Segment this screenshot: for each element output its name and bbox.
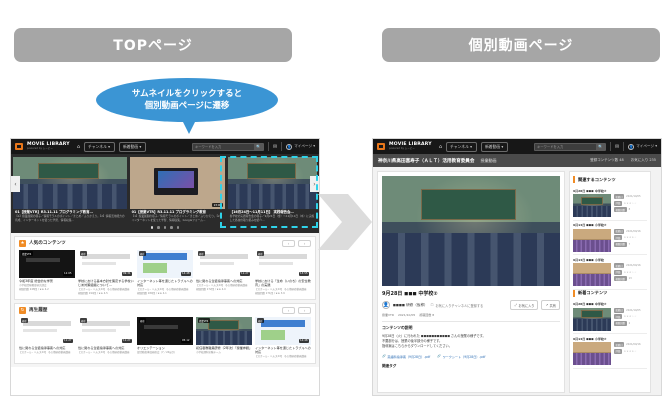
user-menu[interactable]: 👤 マイページ ▾ [628,144,657,150]
favorite-label: お気に入り [519,303,535,308]
logo-sub: powered by ムービー [27,148,70,150]
share-label: 共有 [550,303,556,308]
nav-channel-dropdown[interactable]: チャンネル ▾ [446,142,477,152]
sidebar-list-item[interactable]: 9月14日 ◼◼◼ 小学校②22:05:00投稿日2021/09/16評価★★★… [573,334,647,369]
channel-subtitle: 授業動画 [480,158,496,164]
chip-key: 投稿日 [614,263,624,268]
home-icon[interactable]: ⌂ [439,144,442,150]
tag-section-heading: 関連タグ [382,364,560,369]
nav-divider-2 [281,142,282,151]
card-row: 授業VTR12:05令和3年度 総合的な学習小学校情報教育研究部会視聴回数 24… [19,250,311,295]
duration-badge: 22:05:00 [594,359,609,363]
section-accent-bar [573,176,575,183]
carousel-dots[interactable] [11,222,319,233]
section-history: ↻ 再生履歴 ‹ › 研修11:27性に関わる生徒指導事案への対応【スクール・ヘ… [14,303,316,364]
mail-icon[interactable]: ✉ [273,144,277,150]
sidebar-item-meta: 投稿日2021/09/16評価★★★★☆ [614,342,647,365]
attachment-links: 🔗英語科指導案（9月28日）.pdf🔗ワークシート（9月28日）.pdf [382,354,560,359]
mail-icon[interactable]: ✉ [615,144,619,150]
chip-key: 視聴回数 [614,242,627,247]
section-prev-button[interactable]: ‹ [282,307,295,314]
screenshot-detail-page: MOVIE LIBRARY powered by ムービー ⌂ チャンネル ▾ … [372,138,662,396]
logo-sub: powered by ムービー [389,148,432,150]
logo-icon [377,143,385,150]
video-player[interactable] [382,176,560,286]
duration-badge: 14:48 [181,272,191,276]
card-subtitle: 部活動指導員研修会（7／24ほか） [137,351,193,354]
callout-line-1: サムネイルをクリックすると [132,88,242,100]
detail-body: 9月28日 ◼◼◼ 中学校② 👤 ◼◼◼◼ 研修（仮称） ☐ お気に入りチャンネ… [373,167,661,396]
card-thumbnail[interactable]: 研修11:27 [78,317,134,345]
sidebar-meta-chip: 評価★★★★☆ [614,349,647,354]
screenshot-top-page: MOVIE LIBRARY powered by ムービー ⌂ チャンネル ▾ … [10,138,320,396]
chip-value: 2021/10/05 [626,309,640,312]
sidebar-item-meta: 投稿日2021/09/16評価★★★★☆視聴回数7 [614,229,647,252]
hero-caption: 01【授業VTR】R3.11.11 プログラミング教育 【1】授業展開の様子／情… [130,209,225,222]
card-meta: 視聴回数 171回 / ★★ 3.9 [255,292,311,295]
video-tag: 2021/10/05 [398,313,415,317]
channel-bar: 神奈川県高田喜寿子（ＡＬＴ）活用教育委員会 授業動画 登録コンテンツ数 48 お… [373,154,661,167]
chip-key: 評価 [614,270,622,275]
section-prev-button[interactable]: ‹ [282,240,295,247]
sidebar-thumbnail[interactable]: 18:21:00 [573,263,611,286]
content-card[interactable]: 研修14:48インターネット等を通じたトラブルへの対応【スクール・ヘルス24】 … [137,250,193,295]
chip-key: 投稿日 [614,342,624,347]
hero-slide-row: 15:42 01【授業VTR】R3.11.11 プログラミング教育… 【1】授業… [11,157,319,222]
video-tag: 授業VTR [382,313,394,317]
carousel-dot[interactable] [177,226,180,229]
search-input[interactable]: キーワードを入力 🔍 [192,143,264,151]
search-placeholder: キーワードを入力 [195,144,221,149]
duration-badge: 23:08 [212,203,222,207]
hero-carousel: ‹ › 15:42 01【授業VTR】R3.11.11 プログラミング教育… 【… [11,154,319,233]
description-body: 9月28日（火）に行われた ◼◼◼◼◼◼◼◼◼◼◼ さんの授業の様子です。不要部… [382,334,560,350]
nav-divider [610,142,611,151]
description-line: 指導案はこちらからダウンロードしてください。 [382,344,560,349]
channel-content-count: 登録コンテンツ数 48 [590,158,624,163]
card-title: 初任者教職員研修（2年次）「授業参観」 [196,346,252,350]
callout-line-2: 個別動画ページに遷移 [145,100,230,112]
chip-key: 投稿日 [614,194,624,199]
duration-badge: 18:21:00 [594,280,609,284]
card-thumbnail[interactable]: 授業VTR21:40 [196,317,252,345]
chip-value: 7 [629,243,631,246]
duration-badge: 08:15 [305,203,315,207]
sidebar-section-header: 関連するコンテンツ [573,176,647,183]
category-badge: 研修 [80,251,88,256]
duration-badge: 12:34:00 [594,211,609,215]
card-thumbnail[interactable]: 研修14:48 [255,317,311,345]
content-card[interactable]: 研修11:27性に関わる生徒指導事案への対応【スクール・ヘルス24】 その他研修… [19,317,75,359]
author-avatar-icon: 👤 [382,301,390,309]
chip-key: 評価 [614,201,622,206]
card-subtitle: 【スクール・ヘルス24】 その他研修動画講座 [78,351,134,354]
chip-key: 投稿日 [614,229,624,234]
content-card[interactable]: 研修11:27性に関わる生徒指導事案への対応【スクール・ヘルス24】 その他研修… [78,317,134,359]
chip-key: 視聴回数 [614,276,627,281]
hero-caption: 【16月24日〜11月11日】 実践報告会… 各学校の実践報告会の様子／9月24… [228,209,317,222]
description-heading: コンテンツの説明 [382,325,560,331]
checkbox-icon: ☐ [431,303,434,307]
star-icon: ★ [19,240,26,247]
sidebar-thumbnail[interactable]: 22:05:00 [573,342,611,365]
duration-badge: 09:31 [122,272,132,276]
sidebar-item-title: 9月28日 ◼◼◼ 中学校② [573,302,647,306]
sidebar-meta-chip: 評価★★★★☆ [614,235,647,240]
chip-value: ★★★☆☆ [624,271,637,274]
history-icon: ↻ [19,307,26,314]
category-badge: 授業VTR [21,251,33,256]
card-meta: 視聴回数 194回 / ★★ 4.5 [78,292,134,295]
callout-bubble: サムネイルをクリックすると 個別動画ページに遷移 [96,78,278,122]
home-icon[interactable]: ⌂ [77,144,80,150]
channel-title: 神奈川県高田喜寿子（ＡＬＴ）活用教育委員会 [378,158,474,164]
search-icon[interactable]: 🔍 [596,144,605,150]
nav-new-videos-dropdown[interactable]: 新着動画 ▾ [119,142,146,152]
video-tag: 視聴回数 8 [419,313,434,317]
card-title: 令和3年度 総合的な学習 [19,279,75,283]
carousel-dot[interactable] [157,226,160,229]
avatar: 👤 [286,144,292,150]
duration-badge: 11:27 [122,339,132,343]
category-badge: 研修 [257,251,265,256]
section-title: 人気のコンテンツ [29,240,66,246]
card-thumbnail[interactable]: 研修14:48 [137,250,193,278]
sidebar-meta-chip: 視聴回数7 [614,242,647,247]
chip-key: 視聴回数 [614,207,627,212]
link-icon: 🔗 [382,354,386,358]
search-icon[interactable]: 🔍 [254,144,263,150]
search-placeholder: キーワードを入力 [537,144,563,149]
card-title: インターネット等を通じたトラブルへの対応 [137,279,193,287]
card-title: 性に関わる生徒指導事案への対応 [19,346,75,350]
section-header: ★ 人気のコンテンツ ‹ › [19,240,311,247]
card-title: インターネット等を通じたトラブルへの対応 [255,346,311,354]
section-nav: ‹ › [282,307,311,314]
hero-thumbnail[interactable]: 23:08 [130,157,225,209]
avatar: 👤 [628,144,634,150]
sidebar-item-body: 12:34:00投稿日2021/10/05評価★★★☆☆視聴回数2 [573,308,647,331]
user-menu-label: マイページ ▾ [294,144,315,149]
nav-divider-2 [623,142,624,151]
attachment-link[interactable]: 🔗ワークシート（9月28日）.pdf [437,354,485,359]
nav-divider [268,142,269,151]
card-meta: 視聴回数 248回 / ★★ 4.2 [19,288,75,291]
search-input[interactable]: キーワードを入力 🔍 [534,143,606,151]
sidebar-item-body: 22:05:00投稿日2021/09/16評価★★★★☆ [573,342,647,365]
sidebar-section-title: 新着コンテンツ [578,290,607,296]
sidebar-list-item[interactable]: 9月28日 ◼◼◼ 中学校②12:34:00投稿日2021/10/05評価★★★… [573,300,647,335]
hero-caption: 01【授業VTR】R3.11.11 プログラミング教育… 【1】授業展開の様子／… [13,209,127,222]
duration-badge: 05:12 [181,339,191,343]
card-meta: 視聴回数 180回 / ★★ 4.1 [137,292,193,295]
card-thumbnail[interactable]: 研修05:12 [137,317,193,345]
sidebar-section-title: 関連するコンテンツ [578,177,616,183]
carousel-dot[interactable] [170,226,173,229]
hero-slide[interactable]: 15:42 01【授業VTR】R3.11.11 プログラミング教育… 【1】授業… [13,157,127,222]
content-card[interactable]: 研修09:31学校における基本方針を策定する学校いじめ対策組織について…【スクー… [78,250,134,295]
chip-value: ★★★★☆ [624,350,637,353]
content-card[interactable]: 研修13:55学校における「生命（いのち）の安全教育」の実践【スクール・ヘルス2… [255,250,311,295]
sidebar-item-meta: 投稿日2021/09/16評価★★★☆☆視聴回数13 [614,263,647,286]
attachment-label: 英語科指導案（9月28日）.pdf [387,354,430,359]
hero-slide-selected[interactable]: 08:15 【16月24日〜11月11日】 実践報告会… 各学校の実践報告会の様… [228,157,317,222]
hero-desc: 【1】授業展開の様子／情報モラルのポイント／まとめ／ふりかえり。【2】インターネ… [132,215,223,222]
chip-value: ★★★☆☆ [624,315,637,318]
page-root: TOPページ 個別動画ページ サムネイルをクリックすると 個別動画ページに遷移 … [0,0,672,404]
section-next-button[interactable]: › [298,240,311,247]
duration-badge: 12:05 [63,272,73,276]
chip-value: ★★★☆☆ [624,202,637,205]
favorite-icon: ⤢ [514,303,517,307]
sidebar-meta-chip: 投稿日2021/10/05 [614,194,647,199]
related-sidebar: 関連するコンテンツ9月28日 ◼◼◼ 中学校②12:34:00投稿日2021/1… [569,171,651,393]
section-title: 再生履歴 [29,307,47,313]
sidebar-thumbnail[interactable]: 22:05:00 [573,229,611,252]
content-card[interactable]: 研修11:27性に関わる生徒指導事案への対応【スクール・ヘルス24】 その他研修… [196,250,252,295]
sidebar-item-title: 9月14日 ◼◼◼ 小学校② [573,337,647,341]
sidebar-list-item[interactable]: 9月14日 ◼◼◼ 小学校②22:05:00投稿日2021/09/16評価★★★… [573,221,647,256]
video-author[interactable]: ◼◼◼◼ 研修（仮称） [393,303,428,308]
section-popular: ★ 人気のコンテンツ ‹ › 授業VTR12:05令和3年度 総合的な学習小学校… [14,236,316,300]
logo-text[interactable]: MOVIE LIBRARY powered by ムービー [27,143,70,150]
hero-slide[interactable]: 23:08 01【授業VTR】R3.11.11 プログラミング教育 【1】授業展… [130,157,225,222]
card-subtitle: 小学校理科実験チーム [196,351,252,354]
sidebar-meta-chip: 評価★★★☆☆ [614,314,647,319]
duration-badge: 11:27 [63,339,73,343]
channel-meta: 登録コンテンツ数 48 お気に入り 235 [590,158,656,163]
sidebar-groups: 関連するコンテンツ9月28日 ◼◼◼ 中学校②12:34:00投稿日2021/1… [573,176,647,369]
content-card[interactable]: 授業VTR21:40初任者教職員研修（2年次）「授業参観」小学校理科実験チーム [196,317,252,359]
hero-thumbnail[interactable]: 08:15 [228,157,317,209]
video-main-column: 9月28日 ◼◼◼ 中学校② 👤 ◼◼◼◼ 研修（仮称） ☐ お気に入りチャンネ… [377,171,565,393]
video-meta-row: 👤 ◼◼◼◼ 研修（仮称） ☐ お気に入りチャンネルに登録する ⤢ お気に入り … [382,300,560,310]
sidebar-meta-chip: 評価★★★☆☆ [614,201,647,206]
card-title: 学校における基本方針を策定する学校いじめ対策組織について… [78,279,134,287]
chip-key: 評価 [614,349,622,354]
user-menu[interactable]: 👤 マイページ ▾ [286,144,315,150]
duration-badge: 11:27 [240,272,250,276]
video-action-buttons: ⤢ お気に入り ↗ 共有 [510,300,560,310]
card-thumbnail[interactable]: 研修11:27 [196,250,252,278]
sidebar-meta-chip: 投稿日2021/09/16 [614,229,647,234]
sidebar-meta-chip: 評価★★★☆☆ [614,270,647,275]
chip-key: 視聴回数 [614,321,627,326]
share-button[interactable]: ↗ 共有 [541,300,560,310]
section-header: ↻ 再生履歴 ‹ › [19,307,311,314]
attachment-label: ワークシート（9月28日）.pdf [443,354,486,359]
card-title: 性に関わる生徒指導事案への対応 [78,346,134,350]
sidebar-item-meta: 投稿日2021/10/05評価★★★☆☆視聴回数8 [614,194,647,217]
hero-desc: 【1】授業展開の様子／情報モラルのポイント／まとめ／ふりかえり。【2】情報活用能… [15,215,125,222]
app-navbar-right: MOVIE LIBRARY powered by ムービー ⌂ チャンネル ▾ … [373,139,661,154]
category-badge: 研修 [21,318,29,323]
video-tags: 授業VTR2021/10/05視聴回数 8 [382,313,560,317]
logo-text[interactable]: MOVIE LIBRARY powered by ムービー [389,143,432,150]
carousel-prev-button[interactable]: ‹ [11,176,20,192]
sidebar-item-body: 12:34:00投稿日2021/10/05評価★★★☆☆視聴回数8 [573,194,647,217]
sidebar-section-header: 新着コンテンツ [573,290,647,297]
chip-value: 2 [629,322,631,325]
hero-thumbnail[interactable]: 15:42 [13,157,127,209]
category-badge: 研修 [139,318,147,323]
banner-top-page: TOPページ [14,28,292,62]
duration-badge: 14:48 [299,339,309,343]
sidebar-item-body: 22:05:00投稿日2021/09/16評価★★★★☆視聴回数7 [573,229,647,252]
chip-value: 2021/09/16 [626,343,640,346]
sidebar-list-item[interactable]: 9月28日 ◼◼◼ 中学校②12:34:00投稿日2021/10/05評価★★★… [573,186,647,221]
hero-desc: 各学校の実践報告会の様子／9月24日（金）〜11月11日（木）に実施した各校の取… [230,215,315,222]
checkbox-label: お気に入りチャンネルに登録する [436,303,484,308]
card-thumbnail[interactable]: 授業VTR12:05 [19,250,75,278]
app-navbar-left: MOVIE LIBRARY powered by ムービー ⌂ チャンネル ▾ … [11,139,319,154]
card-title: オリエンテーション [137,346,193,350]
sidebar-item-body: 18:21:00投稿日2021/09/16評価★★★☆☆視聴回数13 [573,263,647,286]
chip-value: ★★★★☆ [624,236,637,239]
sidebar-thumbnail[interactable]: 12:34:00 [573,308,611,331]
card-title: 性に関わる生徒指導事案への対応 [196,279,252,283]
sidebar-thumbnail[interactable]: 12:34:00 [573,194,611,217]
sidebar-meta-chip: 投稿日2021/09/16 [614,342,647,347]
card-thumbnail[interactable]: 研修09:31 [78,250,134,278]
category-badge: 研修 [80,318,88,323]
share-icon: ↗ [545,303,548,307]
category-badge: 研修 [198,251,206,256]
chip-value: 2021/09/16 [626,264,640,267]
right-arrow-icon [318,190,374,254]
sidebar-list-item[interactable]: 9月14日 ◼◼◼ 小学校18:21:00投稿日2021/09/16評価★★★☆… [573,255,647,290]
carousel-next-button[interactable]: › [310,176,319,192]
video-title: 9月28日 ◼◼◼ 中学校② [382,290,560,297]
sidebar-item-title: 9月14日 ◼◼◼ 小学校② [573,223,647,227]
divider [382,321,560,322]
attachment-link[interactable]: 🔗英語科指導案（9月28日）.pdf [382,354,430,359]
sidebar-item-meta: 投稿日2021/10/05評価★★★☆☆視聴回数2 [614,308,647,331]
carousel-dot[interactable] [151,226,154,229]
chip-value: 8 [629,208,631,211]
channel-favorite-count: お気に入り 235 [631,158,656,163]
card-title: 学校における「生命（いのち）の安全教育」の実践 [255,279,311,287]
category-badge: 授業VTR [198,318,210,323]
card-row: 研修11:27性に関わる生徒指導事案への対応【スクール・ヘルス24】 その他研修… [19,317,311,359]
nav-new-videos-dropdown[interactable]: 新着動画 ▾ [481,142,508,152]
favorite-button[interactable]: ⤢ お気に入り [510,300,538,310]
sidebar-meta-chip: 視聴回数2 [614,321,647,326]
chip-value: 2021/10/05 [626,195,640,198]
chip-value: 2021/09/16 [626,230,640,233]
duration-badge: 13:55 [299,272,309,276]
content-card[interactable]: 授業VTR12:05令和3年度 総合的な学習小学校情報教育研究部会視聴回数 24… [19,250,75,295]
content-card[interactable]: 研修14:48インターネット等を通じたトラブルへの対応【スクール・ヘルス24】 … [255,317,311,359]
section-accent-bar [573,290,575,297]
content-sections: ★ 人気のコンテンツ ‹ › 授業VTR12:05令和3年度 総合的な学習小学校… [11,233,319,367]
sidebar-meta-chip: 視聴回数13 [614,276,647,281]
card-subtitle: 【スクール・ヘルス24】 その他研修動画講座 [255,355,311,358]
duration-badge: 15:42 [114,203,124,207]
carousel-dot[interactable] [164,226,167,229]
nav-channel-dropdown[interactable]: チャンネル ▾ [84,142,115,152]
duration-badge: 22:05:00 [594,246,609,250]
duration-badge: 12:34:00 [594,325,609,329]
sidebar-meta-chip: 投稿日2021/09/16 [614,263,647,268]
card-thumbnail[interactable]: 研修13:55 [255,250,311,278]
chip-key: 評価 [614,314,622,319]
category-badge: 研修 [139,251,147,256]
user-menu-label: マイページ ▾ [636,144,657,149]
sidebar-item-title: 9月28日 ◼◼◼ 中学校② [573,189,647,193]
sidebar-meta-chip: 視聴回数8 [614,207,647,212]
section-next-button[interactable]: › [298,307,311,314]
favorite-channel-checkbox[interactable]: ☐ お気に入りチャンネルに登録する [431,303,484,308]
link-icon: 🔗 [437,354,441,358]
duration-badge: 21:40 [240,339,250,343]
section-nav: ‹ › [282,240,311,247]
sidebar-item-title: 9月14日 ◼◼◼ 小学校 [573,258,647,262]
card-thumbnail[interactable]: 研修11:27 [19,317,75,345]
category-badge: 研修 [257,318,265,323]
banner-detail-page: 個別動画ページ [382,28,660,62]
content-card[interactable]: 研修05:12オリエンテーション部活動指導員研修会（7／24ほか） [137,317,193,359]
card-subtitle: 【スクール・ヘルス24】 その他研修動画講座 [19,351,75,354]
chip-key: 投稿日 [614,308,624,313]
chip-key: 評価 [614,235,622,240]
card-meta: 視聴回数 172回 / ★★ 4.0 [196,288,252,291]
logo-icon [15,143,23,150]
chip-value: 13 [629,277,632,280]
sidebar-meta-chip: 投稿日2021/10/05 [614,308,647,313]
